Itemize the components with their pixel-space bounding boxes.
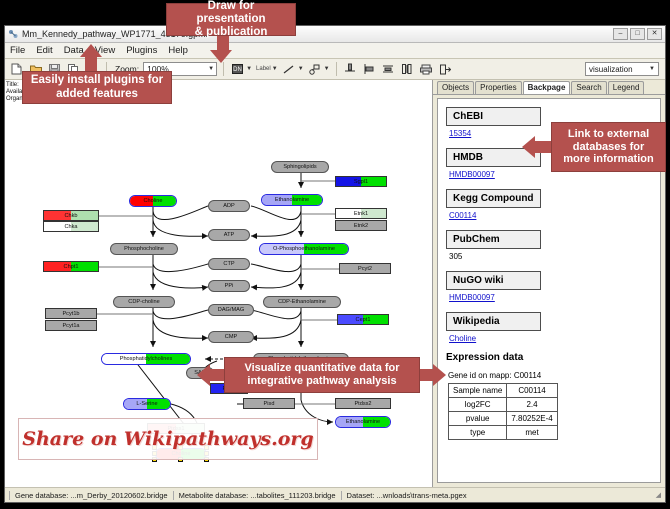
menu-item-file[interactable]: File	[9, 45, 26, 56]
datanode-icon[interactable]: DN	[230, 62, 245, 77]
gene-node-chka[interactable]: Chka	[43, 221, 99, 232]
node-label: Pcyt1b	[46, 311, 96, 317]
metabolite-node-adp[interactable]: ADP	[208, 200, 250, 212]
node-label: L-Serine	[124, 401, 170, 407]
expression-row: pvalue7.80252E-4	[449, 412, 558, 426]
node-label: Ethanolamine	[262, 197, 322, 203]
callout-external-links: Link to external databases for more info…	[551, 122, 666, 172]
gene-node-pcyt2[interactable]: Pcyt2	[339, 263, 391, 274]
align-left-icon[interactable]	[362, 62, 377, 77]
db-link-wikipedia[interactable]: Choline	[449, 334, 660, 343]
status-metabolite-database: Metabolite database: ...tabolites_111203…	[173, 491, 341, 500]
expression-data-title: Expression data	[446, 352, 660, 363]
toolbar-right-group: visualization ▼	[585, 62, 661, 76]
side-panel-tabs: ObjectsPropertiesBackpageSearchLegend	[433, 80, 665, 95]
svg-text:DN: DN	[233, 67, 242, 73]
expression-value: 7.80252E-4	[507, 412, 557, 426]
callout-visualize-arrow-right	[433, 364, 446, 386]
node-label: CDP-Ethanolamine	[264, 299, 340, 305]
status-bar: Gene database: ...m_Derby_20120602.bridg…	[5, 487, 665, 502]
tab-properties[interactable]: Properties	[475, 81, 521, 94]
align-top-icon[interactable]	[343, 62, 358, 77]
node-label: ATP	[209, 232, 249, 238]
status-dataset: Dataset: ...wnloads\trans-meta.pgex	[341, 491, 472, 500]
node-label: CTP	[209, 261, 249, 267]
gene-node-sgpl1[interactable]: Sgpl1	[335, 176, 387, 187]
visualization-combobox[interactable]: visualization ▼	[585, 62, 659, 76]
expression-row: Sample nameC00114	[449, 384, 558, 398]
node-label: Pcyt1a	[46, 323, 96, 329]
metabolite-node-atp[interactable]: ATP	[208, 229, 250, 241]
metabolite-node-cdp-choline[interactable]: CDP-choline	[113, 296, 175, 308]
callout-visualize-arrow-left	[197, 364, 210, 386]
metabolite-node-choline-top[interactable]: Choline	[129, 195, 177, 207]
node-label: CMP	[209, 334, 253, 340]
metabolite-node-cdp-ethanolamine[interactable]: CDP-Ethanolamine	[263, 296, 341, 308]
node-label: Chka	[44, 224, 98, 230]
callout-visualize-stem-right	[418, 369, 434, 381]
node-label: Pcyt2	[340, 266, 390, 272]
db-header-wikipedia: Wikipedia	[446, 312, 541, 331]
menu-item-help[interactable]: Help	[167, 45, 189, 56]
minimize-button[interactable]: –	[613, 28, 628, 40]
gene-node-pcyt1b[interactable]: Pcyt1b	[45, 308, 97, 319]
gene-node-pcyt1a[interactable]: Pcyt1a	[45, 320, 97, 331]
node-label: Phosphocholine	[111, 246, 177, 252]
metabolite-node-phosphatidylcholines[interactable]: Phosphatidylcholines	[101, 353, 191, 365]
datanode-tool[interactable]: DN ▼	[230, 62, 252, 77]
callout-draw-for-publication: Draw for presentation & publication	[166, 3, 296, 36]
tab-search[interactable]: Search	[571, 81, 606, 94]
metabolite-node-ctp[interactable]: CTP	[208, 258, 250, 270]
node-label: Pisd	[244, 401, 294, 407]
chevron-down-icon: ▼	[208, 66, 214, 72]
gene-id-on-mapp: Gene id on mapp: C00114	[448, 371, 660, 380]
callout-plugins-stem	[85, 55, 97, 72]
node-label: PPi	[209, 283, 249, 289]
status-gene-database: Gene database: ...m_Derby_20120602.bridg…	[9, 491, 173, 500]
chevron-down-icon[interactable]: ▼	[272, 66, 278, 72]
expression-row: typemet	[449, 426, 558, 440]
gene-node-ptdss2[interactable]: Ptdss2	[335, 398, 391, 409]
expression-key: type	[449, 426, 507, 440]
close-button[interactable]: ✕	[647, 28, 662, 40]
window-buttons: – □ ✕	[613, 28, 662, 40]
same-width-icon[interactable]	[400, 62, 415, 77]
gene-node-etnk1[interactable]: Etnk1	[335, 208, 387, 219]
shape-tool[interactable]: ▼	[308, 62, 330, 77]
tab-backpage[interactable]: Backpage	[523, 81, 571, 94]
node-label: Etnk2	[336, 223, 386, 229]
gene-node-chkb[interactable]: Chkb	[43, 210, 99, 221]
toolbar-separator-2	[223, 62, 224, 76]
chevron-down-icon[interactable]: ▼	[324, 66, 330, 72]
db-link-nugo-wiki[interactable]: HMDB00097	[449, 293, 660, 302]
node-label: Ethanolamine	[336, 419, 390, 425]
resize-grip[interactable]: ◢	[656, 491, 661, 499]
expression-value: 2.4	[507, 398, 557, 412]
shape-icon[interactable]	[308, 62, 323, 77]
expression-row: log2FC2.4	[449, 398, 558, 412]
chevron-down-icon[interactable]: ▼	[246, 66, 252, 72]
db-header-pubchem: PubChem	[446, 230, 541, 249]
title-bar: Mm_Kennedy_pathway_WP1771_45176.gpml – □…	[5, 26, 665, 43]
visualization-value: visualization	[589, 65, 633, 74]
distribute-vertical-icon[interactable]	[381, 62, 396, 77]
chevron-down-icon: ▼	[649, 66, 655, 72]
node-label: Choline	[130, 198, 176, 204]
metabolite-node-ppi[interactable]: PPi	[208, 280, 250, 292]
node-label: Ptdss2	[336, 401, 390, 407]
expression-data-table: Sample nameC00114log2FC2.4pvalue7.80252E…	[448, 383, 558, 440]
node-label: Chpt1	[44, 264, 98, 270]
metabolite-node-cmp[interactable]: CMP	[208, 331, 254, 343]
node-label: Sphingolipids	[272, 164, 328, 170]
callout-plugins-arrow	[80, 44, 102, 57]
node-label: DAG/MAG	[209, 307, 253, 313]
node-label: Etnk1	[336, 211, 386, 217]
gene-node-etnk2[interactable]: Etnk2	[335, 220, 387, 231]
callout-visualize-data: Visualize quantitative data for integrat…	[224, 357, 420, 393]
db-link-kegg-compound[interactable]: C00114	[449, 211, 660, 220]
gene-node-pisd[interactable]: Pisd	[243, 398, 295, 409]
db-header-nugo-wiki: NuGO wiki	[446, 271, 541, 290]
line-tool[interactable]: ▼	[282, 62, 304, 77]
label-tool[interactable]: Label ▼	[256, 66, 278, 72]
callout-links-arrow	[522, 136, 535, 158]
node-label: CDP-choline	[114, 299, 174, 305]
node-label: Phosphatidylcholines	[102, 356, 190, 362]
callout-share-wikipathways: Share on Wikipathways.org	[18, 418, 318, 460]
metabolite-node-o-phosphoethanolamine[interactable]: O-Phosphoethanolamine	[259, 243, 349, 255]
menu-item-edit[interactable]: Edit	[35, 45, 53, 56]
chevron-down-icon[interactable]: ▼	[298, 66, 304, 72]
metabolite-node-phosphocholine[interactable]: Phosphocholine	[110, 243, 178, 255]
metabolite-node-sphingolipids[interactable]: Sphingolipids	[271, 161, 329, 173]
menu-bar: File Edit Data View Plugins Help	[5, 43, 665, 59]
expression-value: C00114	[507, 384, 557, 398]
label-icon[interactable]: Label	[256, 66, 271, 72]
pathvisio-icon	[8, 29, 18, 39]
metabolite-node-ethanolamine-bottom[interactable]: Ethanolamine	[335, 416, 391, 428]
maximize-button[interactable]: □	[630, 28, 645, 40]
expression-key: pvalue	[449, 412, 507, 426]
callout-draw-arrow	[210, 50, 232, 63]
metabolite-node-l-serine-left[interactable]: L-Serine	[123, 398, 171, 410]
expression-key: Sample name	[449, 384, 507, 398]
share-label: Share on Wikipathways.org	[22, 428, 313, 450]
db-header-chebi: ChEBI	[446, 107, 541, 126]
node-label: O-Phosphoethanolamine	[260, 246, 348, 252]
node-label: Cept1	[338, 317, 388, 323]
print-icon[interactable]	[419, 62, 434, 77]
menu-item-plugins[interactable]: Plugins	[125, 45, 158, 56]
gene-node-cept1[interactable]: Cept1	[337, 314, 389, 325]
callout-install-plugins: Easily install plugins for added feature…	[22, 71, 172, 104]
node-label: ADP	[209, 203, 249, 209]
line-icon[interactable]	[282, 62, 297, 77]
export-icon[interactable]	[438, 62, 453, 77]
metabolite-node-ethanolamine-top[interactable]: Ethanolamine	[261, 194, 323, 206]
tab-legend[interactable]: Legend	[608, 81, 645, 94]
metabolite-node-dagmag[interactable]: DAG/MAG	[208, 304, 254, 316]
tab-objects[interactable]: Objects	[437, 81, 474, 94]
node-label: Chkb	[44, 213, 98, 219]
db-header-kegg-compound: Kegg Compound	[446, 189, 541, 208]
gene-node-chpt1[interactable]: Chpt1	[43, 261, 99, 272]
expression-value: met	[507, 426, 557, 440]
toolbar-separator-3	[336, 62, 337, 76]
expression-key: log2FC	[449, 398, 507, 412]
node-label: Sgpl1	[336, 179, 386, 185]
db-value-pubchem: 305	[449, 252, 660, 261]
